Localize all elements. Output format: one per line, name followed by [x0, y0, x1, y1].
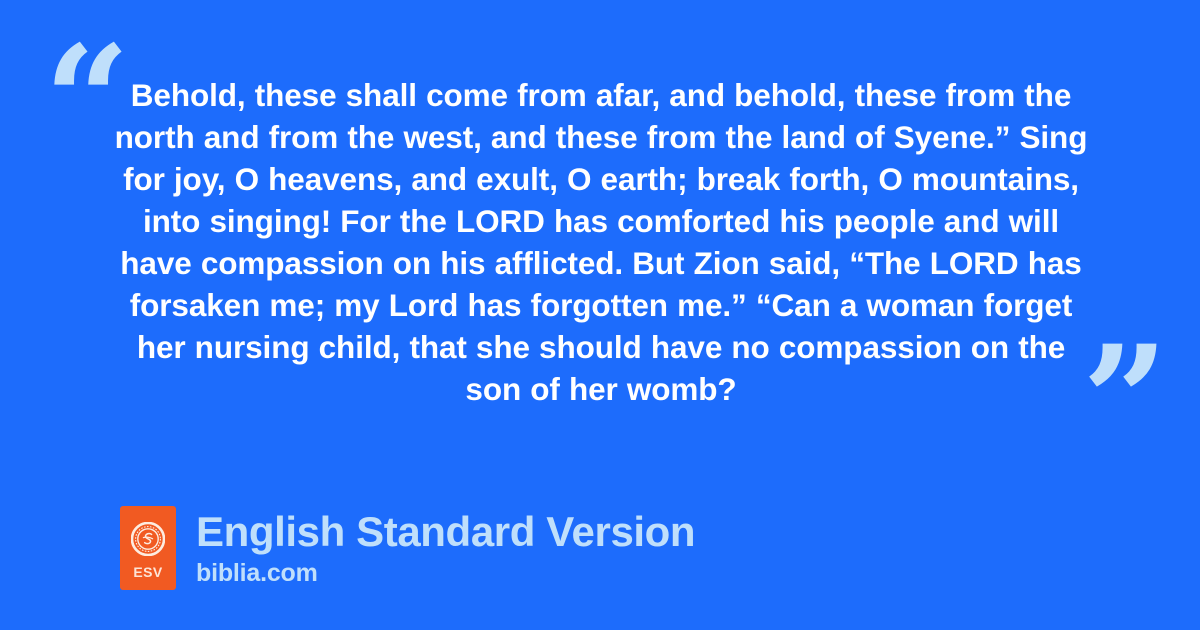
- esv-seal-icon: [131, 522, 165, 556]
- website-link[interactable]: biblia.com: [196, 558, 695, 588]
- close-quote-mark-icon: ”: [1082, 326, 1168, 476]
- translation-title: English Standard Version: [196, 508, 695, 556]
- verse-share-card: “ ” Behold, these shall come from afar, …: [0, 0, 1200, 630]
- verse-container: Behold, these shall come from afar, and …: [112, 74, 1090, 410]
- verse-text: Behold, these shall come from afar, and …: [112, 74, 1090, 410]
- brand-text-group: English Standard Version biblia.com: [196, 506, 695, 588]
- brand-footer: ESV English Standard Version biblia.com: [120, 506, 695, 590]
- esv-abbreviation-label: ESV: [133, 565, 162, 579]
- esv-logo-badge[interactable]: ESV: [120, 506, 176, 590]
